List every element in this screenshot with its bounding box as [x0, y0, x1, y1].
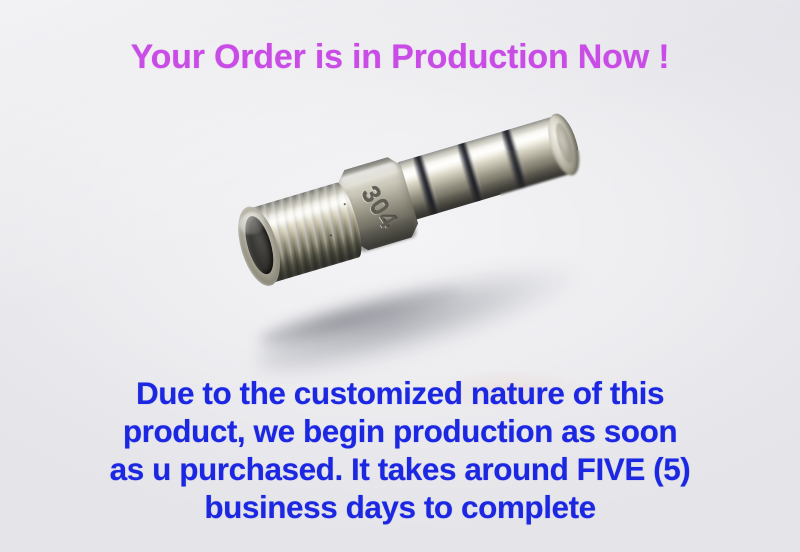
- thread-bore-opening: [240, 213, 279, 277]
- thread-base: [245, 180, 367, 284]
- thread-ridges: [245, 180, 367, 284]
- body-line-2: product, we begin production as soon: [0, 412, 800, 450]
- barb-end-cap: [542, 110, 585, 179]
- barb-specular-highlight: [394, 122, 563, 185]
- thread-bore-outer-rim: [230, 202, 288, 291]
- barb-end-cap-inner: [553, 121, 576, 165]
- bore-rim-highlight: [237, 209, 268, 237]
- headline-text: Your Order is in Production Now !: [0, 38, 800, 77]
- thread-specular-highlight: [248, 190, 353, 237]
- thread-ridges-shadow: [245, 180, 367, 284]
- hose-barb-fitting: 304: [229, 109, 581, 294]
- body-line-1: Due to the customized nature of this: [0, 374, 800, 412]
- thread-shadow: [260, 232, 367, 285]
- hex-nut-body: [334, 154, 421, 253]
- body-message: Due to the customized nature of this pro…: [0, 374, 800, 526]
- barb-shadow: [405, 157, 574, 221]
- product-contact-shadow: [255, 275, 466, 355]
- barb-groove: [411, 154, 441, 218]
- barb-groove: [499, 128, 529, 192]
- surface-speck: [330, 234, 332, 236]
- body-line-4: business days to complete: [0, 488, 800, 526]
- product-drop-shadow: [250, 246, 585, 391]
- male-npt-threaded-end: [245, 180, 367, 284]
- body-line-3: as u purchased. It takes around FIVE (5): [0, 450, 800, 488]
- surface-speck: [343, 203, 345, 205]
- hex-shadow: [354, 215, 418, 253]
- depth-of-field-blur: [500, 150, 610, 270]
- barb-groove: [455, 141, 485, 205]
- announcement-image: Your Order is in Production Now ! 304: [0, 0, 800, 552]
- hex-highlight: [338, 161, 400, 193]
- hose-barb-end: [392, 115, 574, 221]
- grade-stamp-304: 304: [348, 176, 411, 240]
